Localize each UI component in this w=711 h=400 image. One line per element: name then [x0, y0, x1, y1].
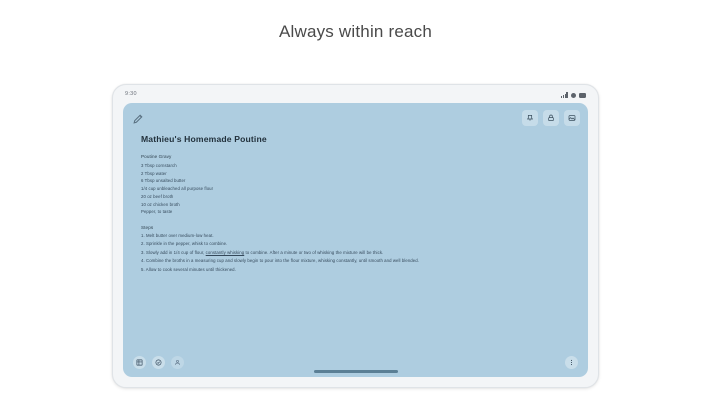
list-item: 1. Melt butter over medium-low heat.	[141, 233, 572, 238]
add-image-button[interactable]	[564, 110, 580, 126]
gravy-section: Poutine Gravy 3 Tbsp cornstarch 2 Tbsp w…	[141, 154, 572, 214]
table-button[interactable]	[133, 356, 146, 369]
list-item: Pepper, to taste	[141, 209, 572, 214]
page-title: Always within reach	[0, 22, 711, 42]
note-title: Mathieu's Homemade Poutine	[141, 135, 572, 144]
pin-button[interactable]	[522, 110, 538, 126]
status-bar: 9:30	[113, 85, 598, 101]
tablet-device-mockup: 9:30	[112, 84, 599, 388]
status-bar-clock: 9:30	[125, 91, 137, 97]
wifi-icon	[571, 93, 576, 98]
list-item: 5. Allow to cook several minutes until t…	[141, 267, 572, 272]
person-icon	[174, 359, 181, 366]
pin-icon	[526, 114, 534, 122]
more-options-button[interactable]	[565, 356, 578, 369]
home-indicator	[314, 370, 398, 373]
check-circle-icon	[155, 359, 162, 366]
list-item: 1/4 cup unbleached all purpose flour	[141, 186, 572, 191]
note-card[interactable]: Mathieu's Homemade Poutine Poutine Gravy…	[123, 103, 588, 377]
underlined-text: constantly whisking	[206, 250, 245, 255]
lock-icon	[547, 114, 555, 122]
note-bottom-left-actions	[133, 356, 184, 369]
list-item: 2. Sprinkle in the pepper, whisk to comb…	[141, 241, 572, 246]
list-item: 6 Tbsp unsalted butter	[141, 178, 572, 183]
list-item: 2 Tbsp water	[141, 171, 572, 176]
checklist-button[interactable]	[152, 356, 165, 369]
note-body[interactable]: Mathieu's Homemade Poutine Poutine Gravy…	[141, 135, 572, 345]
gravy-section-heading: Poutine Gravy	[141, 154, 572, 160]
list-item: 4. Combine the broths in a measuring cup…	[141, 258, 572, 263]
note-top-bar	[123, 103, 588, 133]
status-bar-icons	[561, 90, 586, 98]
steps-section: Steps 1. Melt butter over medium-low hea…	[141, 225, 572, 273]
lock-button[interactable]	[543, 110, 559, 126]
signal-icon	[561, 92, 567, 98]
person-button[interactable]	[171, 356, 184, 369]
battery-icon	[579, 93, 587, 98]
list-item: 20 oz beef broth	[141, 194, 572, 199]
steps-section-heading: Steps	[141, 225, 572, 231]
list-item: 3. Slowly add in 1/4 cup of flour, const…	[141, 250, 572, 255]
more-vertical-icon	[568, 359, 575, 366]
table-icon	[136, 359, 143, 366]
image-icon	[568, 114, 576, 122]
pen-tool-icon[interactable]	[132, 112, 145, 125]
list-item: 10 oz chicken broth	[141, 202, 572, 207]
note-top-actions	[522, 110, 580, 126]
list-item: 3 Tbsp cornstarch	[141, 163, 572, 168]
